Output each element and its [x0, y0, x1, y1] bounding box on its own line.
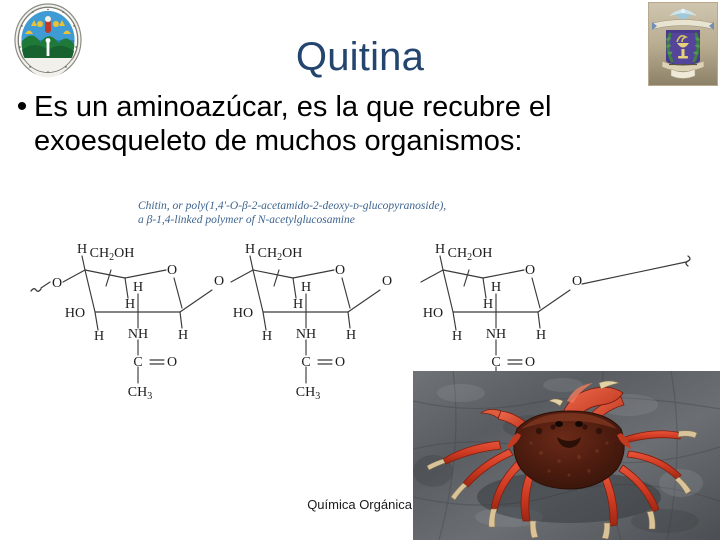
hydrogen-label: H	[94, 329, 104, 344]
figure-caption-line-2: a β-1,4-linked polymer of N-acetylglucos…	[138, 213, 558, 227]
ring-oxygen-label: O	[167, 263, 177, 278]
glycosidic-oxygen-label: O	[214, 274, 224, 289]
bullet-list-item: • Es un aminoazúcar, es la que recubre e…	[10, 90, 610, 158]
carbonyl-oxygen-label: O	[167, 355, 177, 370]
glycosidic-oxygen-label: O	[572, 274, 582, 289]
hydroxyl-label: HO	[65, 306, 85, 321]
hydroxyl-label: HO	[423, 306, 443, 321]
bullet-text: Es un aminoazúcar, es la que recubre el …	[34, 90, 610, 158]
methyl-label: CH3	[296, 385, 320, 402]
amide-nitrogen-label: NH	[128, 327, 148, 342]
hydrogen-label: H	[77, 242, 87, 257]
hydrogen-label: H	[125, 297, 135, 312]
hydrogen-label: H	[452, 329, 462, 344]
hydrogen-label: H	[536, 328, 546, 343]
hydrogen-label: H	[483, 297, 493, 312]
hydrogen-label: H	[491, 280, 501, 295]
amide-nitrogen-label: NH	[296, 327, 316, 342]
carbonyl-oxygen-label: O	[525, 355, 535, 370]
hydroxymethyl-label: CH2OH	[90, 246, 135, 263]
hydrogen-label: H	[301, 280, 311, 295]
carbonyl-carbon-label: C	[133, 355, 142, 370]
hydrogen-label: H	[262, 329, 272, 344]
methyl-label: CH3	[128, 385, 152, 402]
figure-caption-line-1: Chitin, or poly(1,4'-O-β-2-acetamido-2-d…	[138, 199, 558, 213]
page-title: Quitina	[0, 36, 720, 78]
hydrogen-label: H	[346, 328, 356, 343]
amide-nitrogen-label: NH	[486, 327, 506, 342]
ring-oxygen-label: O	[525, 263, 535, 278]
crab-photo	[413, 371, 720, 540]
carbonyl-carbon-label: C	[301, 355, 310, 370]
carbonyl-carbon-label: C	[491, 355, 500, 370]
crab-photo-image	[413, 371, 720, 540]
slide-root: Quitina • Es un aminoazúcar, es la que r…	[0, 0, 720, 540]
hydroxymethyl-label: CH2OH	[258, 246, 303, 263]
glycosidic-oxygen-label: O	[382, 274, 392, 289]
ring-oxygen-label: O	[335, 263, 345, 278]
bullet-marker: •	[10, 90, 34, 124]
hydrogen-label: H	[133, 280, 143, 295]
hydrogen-label: H	[178, 328, 188, 343]
hydroxymethyl-label: CH2OH	[448, 246, 493, 263]
figure-caption: Chitin, or poly(1,4'-O-β-2-acetamido-2-d…	[138, 199, 558, 227]
hydrogen-label: H	[293, 297, 303, 312]
hydroxyl-label: HO	[233, 306, 253, 321]
hydrogen-label: H	[245, 242, 255, 257]
glycosidic-oxygen-label: O	[52, 276, 62, 291]
hydrogen-label: H	[435, 242, 445, 257]
carbonyl-oxygen-label: O	[335, 355, 345, 370]
